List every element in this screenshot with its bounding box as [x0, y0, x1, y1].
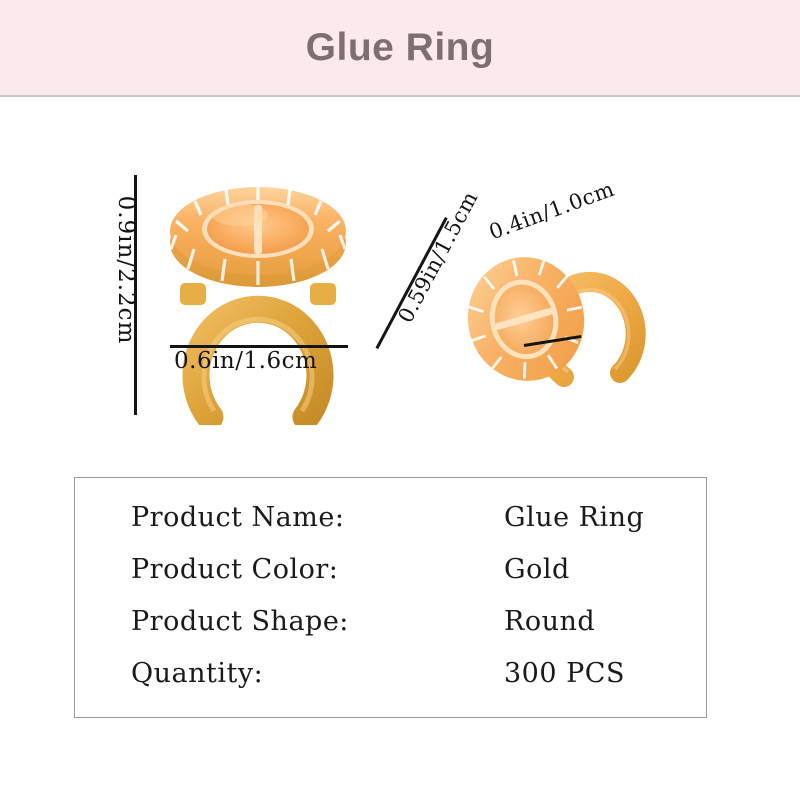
- glue-ring-front-view-image: [168, 177, 348, 425]
- spec-value-product-color: Gold: [504, 554, 570, 585]
- dimension-label-width-left: 0.6in/1.6cm: [174, 348, 317, 374]
- product-illustration-area: 0.9in/2.2cm: [0, 97, 800, 477]
- specification-box: Product Name: Glue Ring Product Color: G…: [74, 477, 707, 718]
- dimension-label-width-right: 0.4in/1.0cm: [486, 177, 618, 244]
- specification-table: Product Name: Glue Ring Product Color: G…: [131, 502, 671, 710]
- glue-ring-angled-view-image: [450, 247, 646, 397]
- spec-value-product-shape: Round: [504, 606, 595, 637]
- header-banner: Glue Ring: [0, 0, 800, 97]
- spec-label-product-color: Product Color:: [131, 554, 504, 585]
- spec-label-product-name: Product Name:: [131, 502, 504, 533]
- spec-row: Product Shape: Round: [131, 606, 671, 658]
- ring-left-group: 0.9in/2.2cm: [90, 157, 370, 497]
- spec-label-product-shape: Product Shape:: [131, 606, 504, 637]
- spec-label-quantity: Quantity:: [131, 658, 504, 689]
- spec-row: Quantity: 300 PCS: [131, 658, 671, 710]
- spec-value-product-name: Glue Ring: [504, 502, 644, 533]
- page-root: Glue Ring 0.9in/2.2cm: [0, 0, 800, 800]
- spec-row: Product Color: Gold: [131, 554, 671, 606]
- page-title: Glue Ring: [306, 28, 495, 67]
- ring-right-group: 0.59in/1.5cm 0.4in/1.0cm: [390, 187, 690, 507]
- spec-value-quantity: 300 PCS: [504, 658, 625, 689]
- dimension-label-height-left: 0.9in/2.2cm: [113, 155, 139, 385]
- spec-row: Product Name: Glue Ring: [131, 502, 671, 554]
